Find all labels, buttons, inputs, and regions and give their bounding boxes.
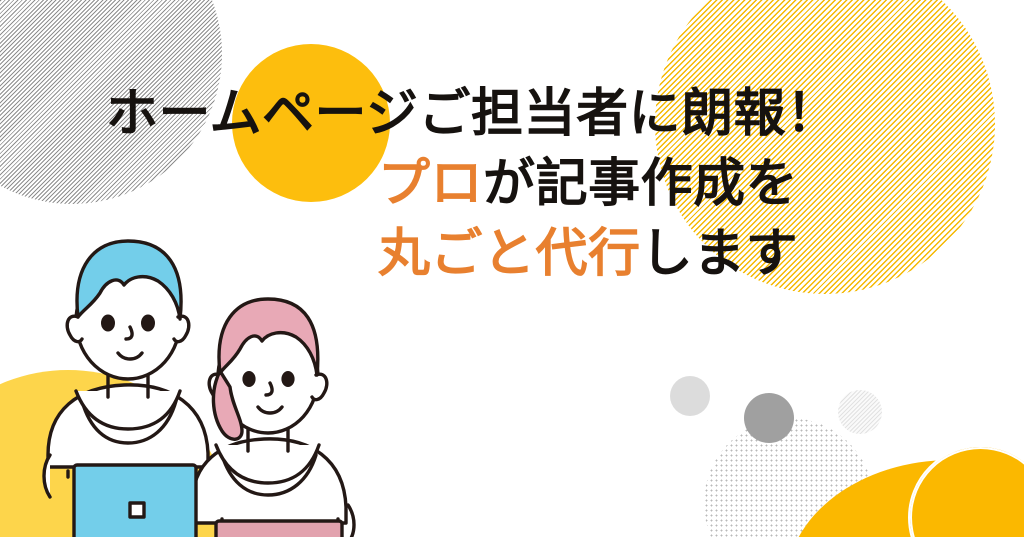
small-striped-circle-decoration <box>838 390 882 434</box>
promo-banner: ホームページご担当者に朗報！ プロが記事作成を 丸ごと代行します <box>0 0 1024 537</box>
headline-block: ホームページご担当者に朗報！ プロが記事作成を 丸ごと代行します <box>106 88 926 280</box>
headline-line-3-segment-shimasu: します <box>641 224 799 284</box>
headline-line-2-segment-pro: プロ <box>378 154 483 214</box>
headline-line-2: プロが記事作成を <box>106 158 926 210</box>
small-grey-circle-decoration <box>670 376 710 416</box>
headline-line-2-segment-rest: が記事作成を <box>483 154 798 214</box>
yellow-ring-circle-decoration <box>908 445 1024 537</box>
headline-line-3: 丸ごと代行します <box>106 228 926 280</box>
headline-line-3-segment-daiko: 丸ごと代行 <box>378 224 641 284</box>
headline-line-1: ホームページご担当者に朗報！ <box>106 88 926 140</box>
mid-grey-circle-decoration <box>744 393 794 443</box>
headline-line-1-text: ホームページご担当者に朗報！ <box>106 84 839 144</box>
